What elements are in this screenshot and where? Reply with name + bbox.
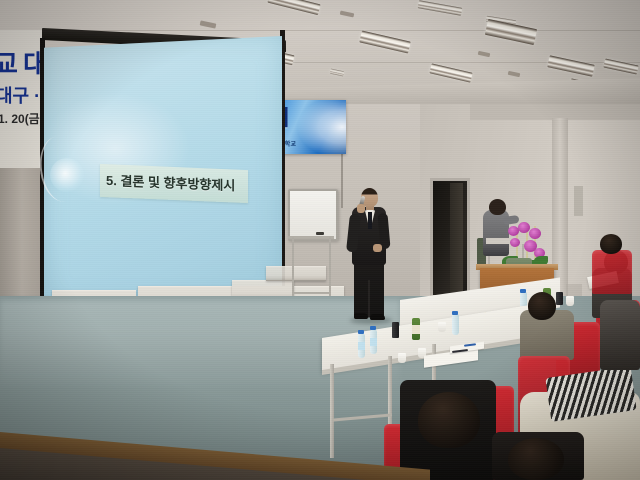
orchid-bloom: [529, 228, 541, 239]
dark-can[interactable]: [392, 322, 399, 338]
bottle-label: [370, 338, 377, 346]
slide-circle-graphic: [50, 158, 84, 192]
water-bottle[interactable]: [452, 314, 459, 335]
audience-person-head: [528, 292, 556, 320]
whiteboard-marker-tray: [288, 236, 334, 239]
audience-person-head: [418, 392, 480, 448]
wall-radiator-unit: [266, 266, 326, 281]
bottle-cap: [520, 289, 526, 293]
presenter-necktie: [368, 212, 372, 229]
orchid-bloom: [510, 238, 520, 247]
whiteboard-marker[interactable]: [316, 232, 324, 235]
whiteboard-crossbar: [292, 292, 331, 294]
bottle-label: [358, 342, 365, 350]
presenter-trouser-seam: [368, 280, 370, 318]
banner-swoosh-graphic: [294, 100, 346, 154]
presenter-shoe-right: [370, 314, 385, 320]
presenter-shoe-left: [354, 313, 368, 319]
bottle-cap: [452, 311, 458, 315]
paper-cup[interactable]: [398, 353, 406, 363]
conference-photo-scene: 교 대 대구 · 1. 20(금) 1 발표회 표회 구대학교 한경공학교 5.…: [0, 0, 640, 480]
bottle-cap: [358, 330, 364, 334]
pull-down-projection-screen: 5. 결론 및 향후방향제시: [22, 28, 284, 314]
audience-person-body: [600, 300, 640, 370]
audience-seat: [592, 250, 632, 294]
dark-can[interactable]: [556, 292, 563, 305]
green-bottle-label: [412, 325, 420, 334]
presenter-hand-lower: [373, 244, 382, 252]
bottle-cap: [370, 326, 376, 330]
wall-panel: [574, 186, 583, 216]
audience-person-head: [600, 234, 622, 254]
audience-person-head: [508, 438, 564, 480]
mobile-whiteboard: [288, 189, 338, 241]
table-leg: [330, 364, 334, 458]
paper-cup[interactable]: [438, 322, 446, 332]
presenter-hand-holding-mic: [357, 204, 365, 213]
paper-cup[interactable]: [566, 296, 574, 306]
door-leaf[interactable]: [450, 183, 463, 293]
seated-person-head: [489, 199, 506, 215]
